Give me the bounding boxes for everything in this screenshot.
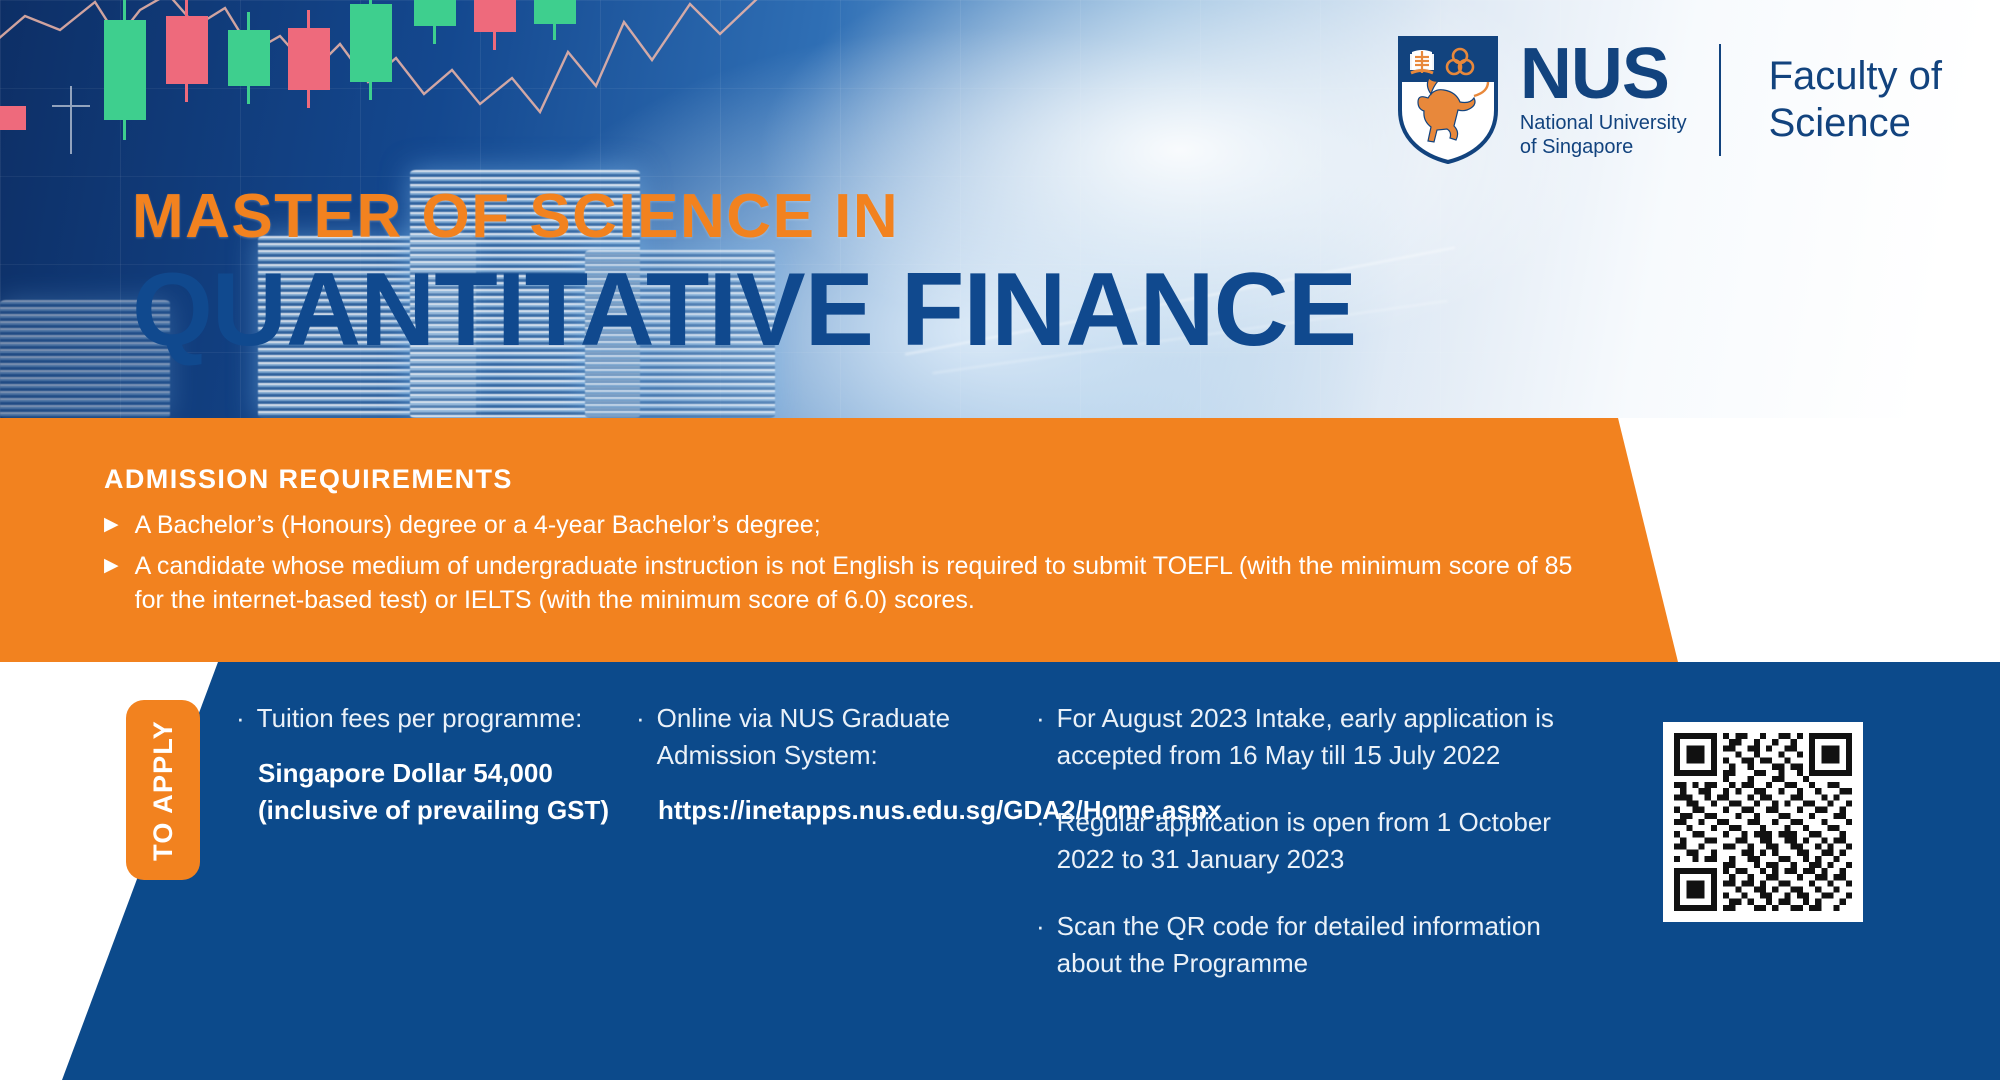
date-text-regular: Regular application is open from 1 Octob…: [1057, 804, 1596, 878]
dot-bullet-icon: ·: [1036, 804, 1045, 878]
hero-title-group: MASTER OF SCIENCE IN QUANTITATIVE FINANC…: [132, 186, 1356, 362]
date-text-early: For August 2023 Intake, early applicatio…: [1057, 700, 1596, 774]
requirement-item: ▶ A Bachelor’s (Honours) degree or a 4-y…: [104, 508, 1574, 543]
dot-bullet-icon: ·: [636, 700, 645, 774]
tuition-fees-column: · Tuition fees per programme: Singapore …: [236, 700, 636, 1011]
nus-logo: NUS National University of Singapore Fac…: [1398, 36, 1942, 164]
list-item: · Tuition fees per programme:: [236, 700, 636, 737]
candlestick-chart-graphic: [0, 0, 760, 186]
faculty-line1: Faculty of: [1769, 53, 1942, 100]
to-apply-label: TO APPLY: [148, 720, 179, 861]
list-item: · For August 2023 Intake, early applicat…: [1036, 700, 1596, 774]
hero-kicker: MASTER OF SCIENCE IN: [132, 186, 1356, 248]
dot-bullet-icon: ·: [1036, 908, 1045, 982]
requirement-text: A Bachelor’s (Honours) degree or a 4-yea…: [135, 508, 1574, 543]
nus-wordmark: NUS: [1520, 41, 1687, 107]
dot-bullet-icon: ·: [236, 700, 245, 737]
list-item: · Scan the QR code for detailed informat…: [1036, 908, 1596, 982]
admission-requirements-title: ADMISSION REQUIREMENTS: [104, 464, 513, 495]
nus-wordmark-block: NUS National University of Singapore: [1520, 41, 1687, 159]
tuition-intro-text: Tuition fees per programme:: [257, 700, 636, 737]
nus-subtitle-line1: National University: [1520, 111, 1687, 135]
qr-code[interactable]: [1663, 722, 1863, 922]
apply-columns: · Tuition fees per programme: Singapore …: [236, 700, 1636, 1011]
faculty-line2: Science: [1769, 100, 1942, 147]
qr-code-image: [1674, 733, 1852, 911]
application-url-link[interactable]: https://inetapps.nus.edu.sg/GDA2/Home.as…: [636, 792, 1036, 829]
triangle-bullet-icon: ▶: [104, 549, 119, 618]
online-application-column: · Online via NUS Graduate Admission Syst…: [636, 700, 1036, 1011]
application-dates-column: · For August 2023 Intake, early applicat…: [1036, 700, 1596, 1011]
to-apply-badge: TO APPLY: [126, 700, 200, 880]
list-item: · Regular application is open from 1 Oct…: [1036, 804, 1596, 878]
requirement-item: ▶ A candidate whose medium of undergradu…: [104, 549, 1574, 618]
nus-subtitle-line2: of Singapore: [1520, 135, 1687, 159]
faculty-label: Faculty of Science: [1769, 53, 1942, 147]
online-intro-text: Online via NUS Graduate Admission System…: [657, 700, 1036, 774]
logo-divider: [1719, 44, 1721, 156]
msc-quantitative-finance-banner: MASTER OF SCIENCE IN QUANTITATIVE FINANC…: [0, 0, 2000, 1080]
triangle-bullet-icon: ▶: [104, 508, 119, 543]
tuition-amount-text: Singapore Dollar 54,000 (inclusive of pr…: [236, 755, 636, 829]
admission-requirements-list: ▶ A Bachelor’s (Honours) degree or a 4-y…: [104, 508, 1574, 624]
list-item: · Online via NUS Graduate Admission Syst…: [636, 700, 1036, 774]
requirement-text: A candidate whose medium of undergraduat…: [135, 549, 1574, 618]
qr-instruction-text: Scan the QR code for detailed informatio…: [1057, 908, 1596, 982]
dot-bullet-icon: ·: [1036, 700, 1045, 774]
nus-crest-icon: [1398, 36, 1498, 164]
hero-headline: QUANTITATIVE FINANCE: [132, 258, 1356, 362]
